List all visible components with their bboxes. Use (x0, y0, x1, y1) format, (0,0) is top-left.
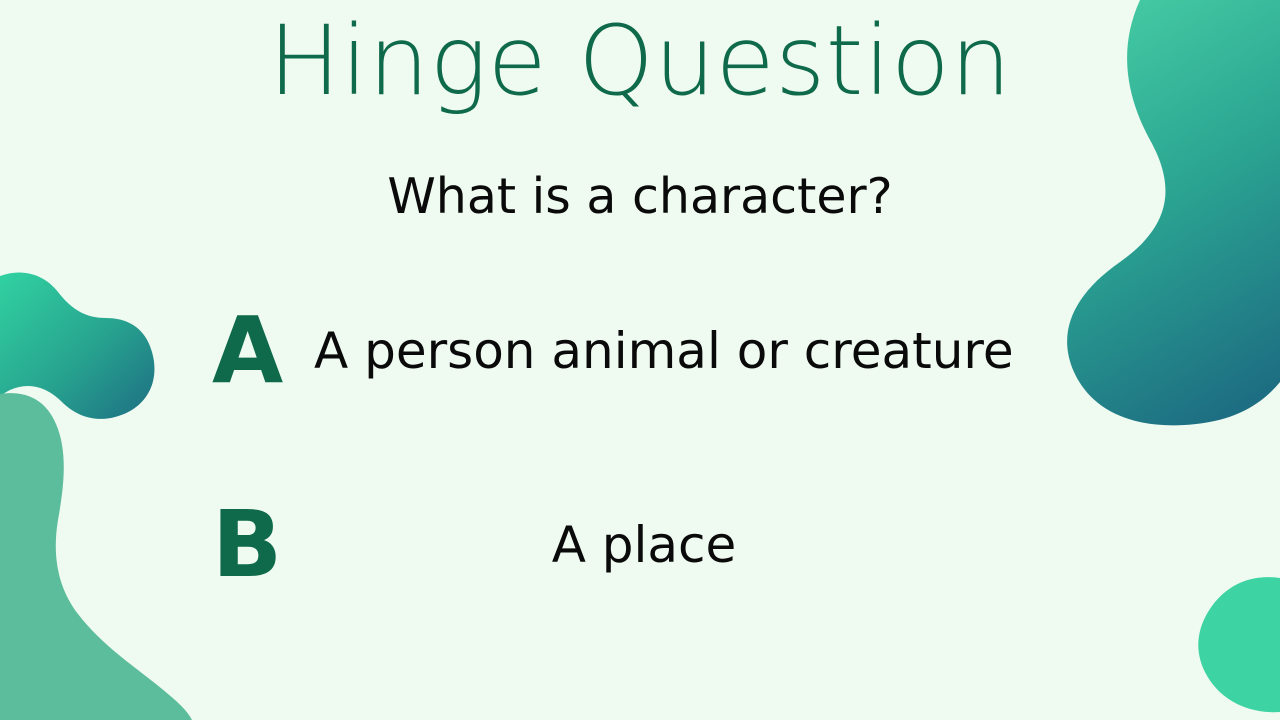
answer-option-a[interactable]: A A person animal or creature (0, 296, 1280, 406)
option-a-letter: A (212, 305, 308, 397)
slide-canvas: Hinge Question What is a character? A A … (0, 0, 1280, 720)
option-b-letter: B (212, 499, 308, 591)
answer-option-b[interactable]: B A place (0, 490, 1280, 600)
page-title: Hinge Question (0, 8, 1280, 116)
question-text: What is a character? (0, 168, 1280, 225)
option-b-text: A place (308, 516, 1280, 574)
option-a-text: A person animal or creature (308, 322, 1280, 380)
